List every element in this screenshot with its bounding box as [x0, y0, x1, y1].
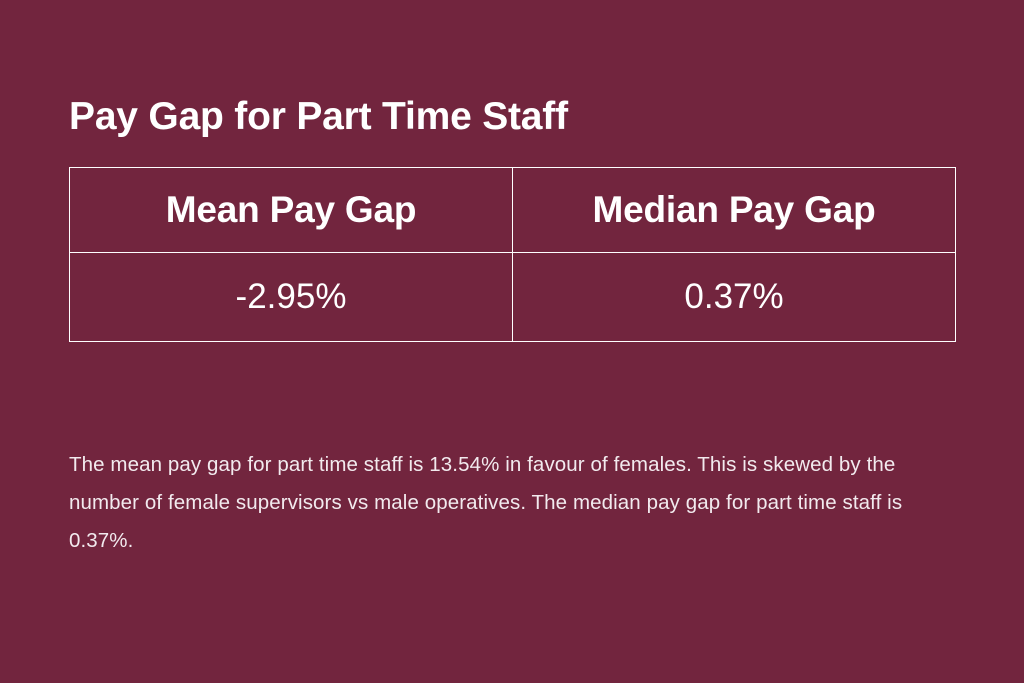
- table-row: -2.95% 0.37%: [70, 253, 956, 342]
- pay-gap-table: Mean Pay Gap Median Pay Gap -2.95% 0.37%: [69, 167, 956, 342]
- explanatory-paragraph: The mean pay gap for part time staff is …: [69, 446, 959, 560]
- column-header-median-pay-gap: Median Pay Gap: [513, 168, 956, 253]
- pay-gap-report-page: Pay Gap for Part Time Staff Mean Pay Gap…: [0, 0, 1024, 683]
- table-header-row: Mean Pay Gap Median Pay Gap: [70, 168, 956, 253]
- cell-median-pay-gap-value: 0.37%: [513, 253, 956, 342]
- column-header-mean-pay-gap: Mean Pay Gap: [70, 168, 513, 253]
- cell-mean-pay-gap-value: -2.95%: [70, 253, 513, 342]
- page-title: Pay Gap for Part Time Staff: [69, 96, 568, 139]
